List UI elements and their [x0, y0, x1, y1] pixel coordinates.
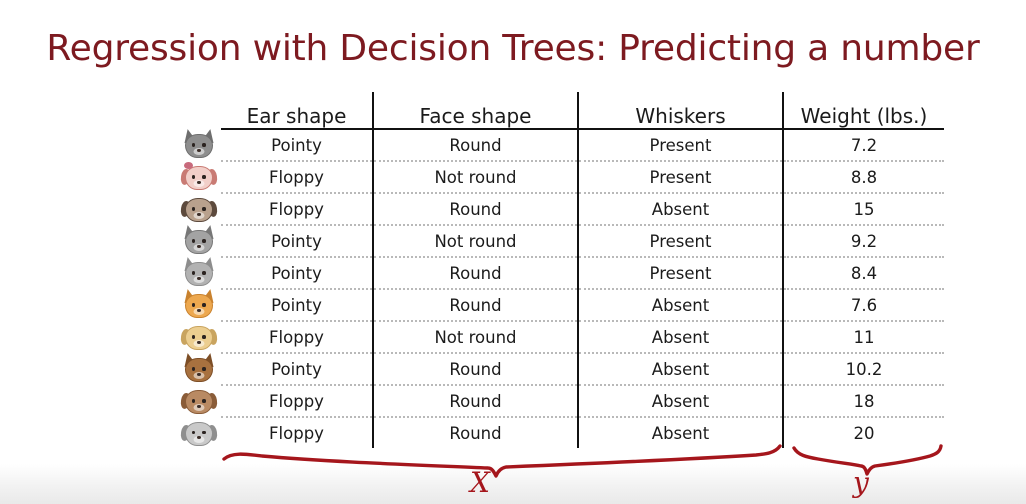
row-animal-icon-cell: [176, 385, 221, 417]
cell-ear-shape: Pointy: [221, 353, 373, 385]
tan-pug-dog-face-icon: [182, 194, 216, 224]
orange-cat-face-icon: [182, 290, 216, 320]
gray-wolf-face-icon: [182, 226, 216, 256]
column-header-face-shape: Face shape: [373, 92, 578, 129]
row-animal-icon-cell: [176, 257, 221, 289]
cell-whiskers: Absent: [578, 353, 783, 385]
cell-whiskers: Present: [578, 257, 783, 289]
cell-ear-shape: Pointy: [221, 289, 373, 321]
cell-weight: 10.2: [783, 353, 944, 385]
row-animal-icon-cell: [176, 161, 221, 193]
table-row: PointyNot roundPresent9.2: [176, 225, 944, 257]
cell-face-shape: Round: [373, 257, 578, 289]
row-animal-icon-cell: [176, 193, 221, 225]
cell-face-shape: Round: [373, 353, 578, 385]
cell-weight: 8.8: [783, 161, 944, 193]
cell-face-shape: Round: [373, 385, 578, 417]
cell-whiskers: Absent: [578, 321, 783, 353]
row-animal-icon-cell: [176, 289, 221, 321]
column-header-weight: Weight (lbs.): [783, 92, 944, 129]
cell-ear-shape: Floppy: [221, 161, 373, 193]
gray-bulldog-face-icon: [182, 418, 216, 448]
cell-whiskers: Absent: [578, 193, 783, 225]
cell-face-shape: Round: [373, 193, 578, 225]
gray-kitten-face-icon: [182, 258, 216, 288]
gray-cat-face-icon: [182, 130, 216, 160]
table-row: FloppyNot roundPresent8.8: [176, 161, 944, 193]
table-header-row: Ear shape Face shape Whiskers Weight (lb…: [176, 92, 944, 129]
cell-whiskers: Absent: [578, 385, 783, 417]
table-header: Ear shape Face shape Whiskers Weight (lb…: [176, 92, 944, 129]
cell-weight: 11: [783, 321, 944, 353]
target-brace-label: y: [853, 466, 869, 499]
brown-dog-face-icon: [182, 386, 216, 416]
cell-face-shape: Not round: [373, 321, 578, 353]
table-body: PointyRoundPresent7.2FloppyNot roundPres…: [176, 129, 944, 448]
brown-cat-face-icon: [182, 354, 216, 384]
cell-weight: 7.2: [783, 129, 944, 161]
cell-ear-shape: Pointy: [221, 129, 373, 161]
row-animal-icon-cell: [176, 225, 221, 257]
table-row: PointyRoundPresent8.4: [176, 257, 944, 289]
column-header-icon: [176, 92, 221, 129]
cell-whiskers: Absent: [578, 289, 783, 321]
cell-ear-shape: Floppy: [221, 321, 373, 353]
table-row: FloppyRoundAbsent18: [176, 385, 944, 417]
cell-weight: 8.4: [783, 257, 944, 289]
column-header-whiskers: Whiskers: [578, 92, 783, 129]
cell-face-shape: Not round: [373, 161, 578, 193]
cell-face-shape: Round: [373, 289, 578, 321]
dataset-table-container: Ear shape Face shape Whiskers Weight (lb…: [176, 92, 944, 448]
row-animal-icon-cell: [176, 321, 221, 353]
cell-ear-shape: Pointy: [221, 225, 373, 257]
features-brace-label: X: [470, 466, 490, 499]
cell-ear-shape: Floppy: [221, 193, 373, 225]
dataset-table: Ear shape Face shape Whiskers Weight (lb…: [176, 92, 944, 448]
cell-weight: 15: [783, 193, 944, 225]
cell-face-shape: Round: [373, 129, 578, 161]
row-animal-icon-cell: [176, 353, 221, 385]
cell-weight: 9.2: [783, 225, 944, 257]
table-row: PointyRoundPresent7.2: [176, 129, 944, 161]
table-row: FloppyRoundAbsent15: [176, 193, 944, 225]
brace-annotations: [0, 444, 1026, 504]
cell-face-shape: Not round: [373, 225, 578, 257]
cell-whiskers: Present: [578, 129, 783, 161]
table-row: PointyRoundAbsent7.6: [176, 289, 944, 321]
cell-weight: 18: [783, 385, 944, 417]
slide-canvas: Regression with Decision Trees: Predicti…: [0, 0, 1026, 504]
column-header-ear-shape: Ear shape: [221, 92, 373, 129]
table-row: FloppyNot roundAbsent11: [176, 321, 944, 353]
cell-ear-shape: Pointy: [221, 257, 373, 289]
features-brace: [224, 446, 780, 476]
cell-whiskers: Present: [578, 225, 783, 257]
blonde-dog-face-icon: [182, 322, 216, 352]
cell-ear-shape: Floppy: [221, 385, 373, 417]
cell-weight: 7.6: [783, 289, 944, 321]
page-title: Regression with Decision Trees: Predicti…: [0, 28, 1026, 69]
table-row: PointyRoundAbsent10.2: [176, 353, 944, 385]
pink-cat-with-bow-icon: [182, 162, 216, 192]
cell-whiskers: Present: [578, 161, 783, 193]
row-animal-icon-cell: [176, 129, 221, 161]
